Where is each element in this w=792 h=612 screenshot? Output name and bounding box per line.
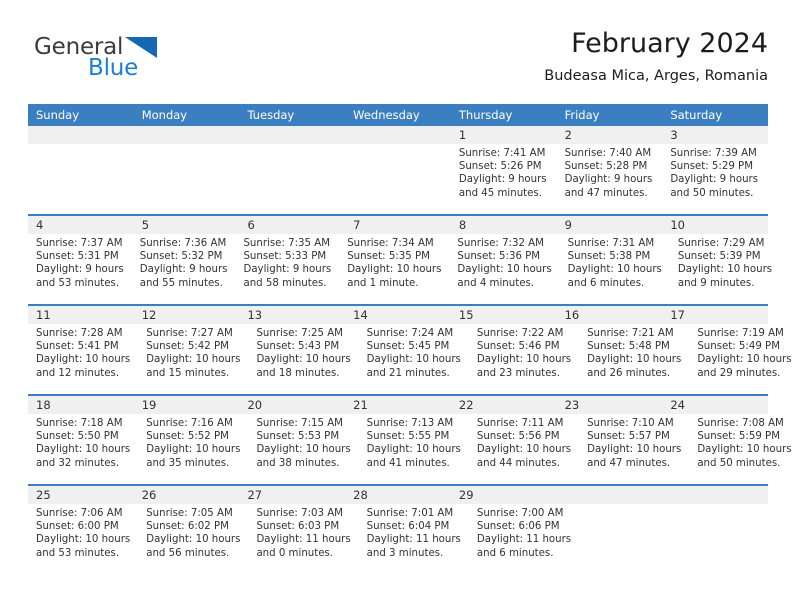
day-info-line: and 44 minutes. — [477, 457, 571, 470]
day-info-line: and 47 minutes. — [565, 187, 655, 200]
day-info-line: and 32 minutes. — [36, 457, 130, 470]
day-info-line: Sunrise: 7:41 AM — [459, 147, 549, 160]
day-info-line: and 38 minutes. — [256, 457, 350, 470]
day-cell-23[interactable]: Sunrise: 7:10 AMSunset: 5:57 PMDaylight:… — [579, 414, 689, 484]
day-info-line: Sunset: 5:49 PM — [697, 340, 791, 353]
week-detail-row: Sunrise: 7:41 AMSunset: 5:26 PMDaylight:… — [28, 144, 768, 214]
day-info-line: Sunset: 5:26 PM — [459, 160, 549, 173]
day-info-line: Sunset: 5:35 PM — [347, 250, 441, 263]
day-info-line: Daylight: 10 hours — [256, 353, 350, 366]
day-number-12[interactable]: 12 — [134, 306, 240, 324]
day-info-line: Sunrise: 7:39 AM — [670, 147, 760, 160]
day-info-line: Daylight: 9 hours — [565, 173, 655, 186]
day-number-empty — [239, 126, 345, 144]
day-info-line: and 26 minutes. — [587, 367, 681, 380]
day-info-line: Sunset: 5:59 PM — [697, 430, 791, 443]
day-cell-14[interactable]: Sunrise: 7:24 AMSunset: 5:45 PMDaylight:… — [359, 324, 469, 394]
day-info-line: and 47 minutes. — [587, 457, 681, 470]
day-info-line: Sunrise: 7:24 AM — [367, 327, 461, 340]
day-number-15[interactable]: 15 — [451, 306, 557, 324]
day-info-line: Sunrise: 7:05 AM — [146, 507, 240, 520]
day-info-line: Sunset: 5:56 PM — [477, 430, 571, 443]
week-date-strip: 123 — [28, 126, 768, 144]
day-info-line: Daylight: 10 hours — [477, 353, 571, 366]
day-info-line: Daylight: 10 hours — [697, 443, 791, 456]
title-block: February 2024 Budeasa Mica, Arges, Roman… — [544, 28, 768, 85]
day-info-line: Sunset: 5:43 PM — [256, 340, 350, 353]
day-cell-22[interactable]: Sunrise: 7:11 AMSunset: 5:56 PMDaylight:… — [469, 414, 579, 484]
day-info-line: Sunrise: 7:01 AM — [367, 507, 461, 520]
weekday-header-thursday: Thursday — [451, 104, 557, 126]
day-info-line: and 15 minutes. — [146, 367, 240, 380]
day-info-line: and 1 minute. — [347, 277, 441, 290]
day-cell-13[interactable]: Sunrise: 7:25 AMSunset: 5:43 PMDaylight:… — [248, 324, 358, 394]
day-info-line: Daylight: 10 hours — [697, 353, 791, 366]
day-info-line: Daylight: 10 hours — [36, 533, 130, 546]
day-info-line: Daylight: 11 hours — [477, 533, 571, 546]
day-number-empty — [28, 126, 134, 144]
day-cell-11[interactable]: Sunrise: 7:28 AMSunset: 5:41 PMDaylight:… — [28, 324, 138, 394]
day-info-line: Sunset: 5:31 PM — [36, 250, 124, 263]
day-info-line: and 23 minutes. — [477, 367, 571, 380]
day-number-11[interactable]: 11 — [28, 306, 134, 324]
day-number-29[interactable]: 29 — [451, 486, 557, 504]
day-info-line: Sunrise: 7:06 AM — [36, 507, 130, 520]
day-info-line: and 0 minutes. — [256, 547, 350, 560]
day-cell-empty — [134, 144, 240, 214]
day-info-line: and 4 minutes. — [457, 277, 551, 290]
day-info-line: Sunrise: 7:19 AM — [697, 327, 791, 340]
day-info-line: Daylight: 10 hours — [587, 443, 681, 456]
day-info-line: and 53 minutes. — [36, 547, 130, 560]
day-cell-7[interactable]: Sunrise: 7:34 AMSunset: 5:35 PMDaylight:… — [339, 234, 449, 304]
day-info-line: Sunset: 5:57 PM — [587, 430, 681, 443]
day-info-line: Sunset: 5:45 PM — [367, 340, 461, 353]
day-cell-17[interactable]: Sunrise: 7:19 AMSunset: 5:49 PMDaylight:… — [689, 324, 792, 394]
day-info-line: and 6 minutes. — [568, 277, 662, 290]
day-cell-5[interactable]: Sunrise: 7:36 AMSunset: 5:32 PMDaylight:… — [132, 234, 236, 304]
week-date-strip: 18192021222324 — [28, 396, 768, 414]
day-info-line: Sunrise: 7:28 AM — [36, 327, 130, 340]
day-info-line: Sunrise: 7:08 AM — [697, 417, 791, 430]
day-number-empty — [557, 486, 663, 504]
day-info-line: and 53 minutes. — [36, 277, 124, 290]
day-info-line: Sunset: 5:42 PM — [146, 340, 240, 353]
day-info-line: Sunset: 5:46 PM — [477, 340, 571, 353]
day-cell-3[interactable]: Sunrise: 7:39 AMSunset: 5:29 PMDaylight:… — [662, 144, 768, 214]
day-number-empty — [134, 126, 240, 144]
calendar-weeks: 123Sunrise: 7:41 AMSunset: 5:26 PMDaylig… — [28, 126, 768, 574]
day-info-line: Sunrise: 7:27 AM — [146, 327, 240, 340]
day-info-line: Sunset: 5:53 PM — [256, 430, 350, 443]
day-cell-9[interactable]: Sunrise: 7:31 AMSunset: 5:38 PMDaylight:… — [560, 234, 670, 304]
day-info-line: Sunset: 5:38 PM — [568, 250, 662, 263]
day-cell-21[interactable]: Sunrise: 7:13 AMSunset: 5:55 PMDaylight:… — [359, 414, 469, 484]
day-cell-28[interactable]: Sunrise: 7:01 AMSunset: 6:04 PMDaylight:… — [359, 504, 469, 574]
day-info-line: Daylight: 10 hours — [146, 353, 240, 366]
day-info-line: Sunrise: 7:13 AM — [367, 417, 461, 430]
day-cell-8[interactable]: Sunrise: 7:32 AMSunset: 5:36 PMDaylight:… — [449, 234, 559, 304]
day-info-line: Daylight: 10 hours — [457, 263, 551, 276]
page-subtitle: Budeasa Mica, Arges, Romania — [544, 68, 768, 85]
day-info-line: Daylight: 10 hours — [36, 353, 130, 366]
weekday-header-wednesday: Wednesday — [345, 104, 451, 126]
day-info-line: Daylight: 9 hours — [459, 173, 549, 186]
day-info-line: Sunset: 5:28 PM — [565, 160, 655, 173]
day-info-line: Daylight: 9 hours — [243, 263, 331, 276]
general-blue-logo[interactable]: General Blue — [28, 34, 288, 90]
day-cell-4[interactable]: Sunrise: 7:37 AMSunset: 5:31 PMDaylight:… — [28, 234, 132, 304]
day-info-line: and 9 minutes. — [678, 277, 772, 290]
weekday-header-monday: Monday — [134, 104, 240, 126]
day-number-21[interactable]: 21 — [345, 396, 451, 414]
day-number-27[interactable]: 27 — [239, 486, 345, 504]
day-number-16[interactable]: 16 — [557, 306, 663, 324]
day-number-14[interactable]: 14 — [345, 306, 451, 324]
day-info-line: Sunset: 6:03 PM — [256, 520, 350, 533]
day-info-line: Sunset: 5:33 PM — [243, 250, 331, 263]
day-cell-10[interactable]: Sunrise: 7:29 AMSunset: 5:39 PMDaylight:… — [670, 234, 780, 304]
day-number-empty — [345, 126, 451, 144]
day-info-line: Sunrise: 7:36 AM — [140, 237, 228, 250]
day-info-line: Daylight: 10 hours — [367, 353, 461, 366]
day-info-line: Daylight: 10 hours — [678, 263, 772, 276]
day-info-line: Sunrise: 7:31 AM — [568, 237, 662, 250]
day-info-line: Daylight: 10 hours — [146, 533, 240, 546]
weekday-header-saturday: Saturday — [662, 104, 768, 126]
day-number-13[interactable]: 13 — [239, 306, 345, 324]
day-info-line: Daylight: 10 hours — [146, 443, 240, 456]
day-info-line: and 3 minutes. — [367, 547, 461, 560]
day-info-line: Daylight: 11 hours — [367, 533, 461, 546]
day-info-line: and 12 minutes. — [36, 367, 130, 380]
day-info-line: Daylight: 11 hours — [256, 533, 350, 546]
day-cell-6[interactable]: Sunrise: 7:35 AMSunset: 5:33 PMDaylight:… — [235, 234, 339, 304]
day-info-line: Sunrise: 7:15 AM — [256, 417, 350, 430]
day-number-18[interactable]: 18 — [28, 396, 134, 414]
day-cell-26[interactable]: Sunrise: 7:05 AMSunset: 6:02 PMDaylight:… — [138, 504, 248, 574]
day-info-line: Daylight: 10 hours — [256, 443, 350, 456]
page-header: General Blue February 2024 Budeasa Mica,… — [28, 28, 768, 96]
weekday-header-sunday: Sunday — [28, 104, 134, 126]
day-cell-18[interactable]: Sunrise: 7:18 AMSunset: 5:50 PMDaylight:… — [28, 414, 138, 484]
day-info-line: Daylight: 10 hours — [347, 263, 441, 276]
day-info-line: Sunrise: 7:03 AM — [256, 507, 350, 520]
day-info-line: Sunrise: 7:34 AM — [347, 237, 441, 250]
day-info-line: Daylight: 10 hours — [587, 353, 681, 366]
day-info-line: and 35 minutes. — [146, 457, 240, 470]
day-info-line: and 29 minutes. — [697, 367, 791, 380]
day-number-6[interactable]: 6 — [239, 216, 345, 234]
day-info-line: Sunset: 5:32 PM — [140, 250, 228, 263]
day-number-23[interactable]: 23 — [557, 396, 663, 414]
day-info-line: Sunset: 6:00 PM — [36, 520, 130, 533]
day-cell-27[interactable]: Sunrise: 7:03 AMSunset: 6:03 PMDaylight:… — [248, 504, 358, 574]
day-number-2[interactable]: 2 — [557, 126, 663, 144]
day-info-line: Daylight: 10 hours — [477, 443, 571, 456]
logo-text-blue: Blue — [88, 55, 138, 81]
day-cell-20[interactable]: Sunrise: 7:15 AMSunset: 5:53 PMDaylight:… — [248, 414, 358, 484]
day-info-line: Daylight: 10 hours — [568, 263, 662, 276]
day-info-line: and 6 minutes. — [477, 547, 571, 560]
day-info-line: Sunset: 5:52 PM — [146, 430, 240, 443]
day-cell-2[interactable]: Sunrise: 7:40 AMSunset: 5:28 PMDaylight:… — [557, 144, 663, 214]
day-number-22[interactable]: 22 — [451, 396, 557, 414]
week-date-strip: 45678910 — [28, 216, 768, 234]
day-info-line: Sunrise: 7:16 AM — [146, 417, 240, 430]
day-number-17[interactable]: 17 — [662, 306, 768, 324]
week-detail-row: Sunrise: 7:18 AMSunset: 5:50 PMDaylight:… — [28, 414, 768, 484]
day-cell-empty — [579, 504, 673, 574]
day-info-line: and 21 minutes. — [367, 367, 461, 380]
day-info-line: and 56 minutes. — [146, 547, 240, 560]
day-info-line: Sunrise: 7:35 AM — [243, 237, 331, 250]
day-cell-24[interactable]: Sunrise: 7:08 AMSunset: 5:59 PMDaylight:… — [689, 414, 792, 484]
day-number-9[interactable]: 9 — [557, 216, 663, 234]
calendar-week-row: 45678910Sunrise: 7:37 AMSunset: 5:31 PMD… — [28, 214, 768, 304]
day-info-line: and 18 minutes. — [256, 367, 350, 380]
day-info-line: Sunrise: 7:21 AM — [587, 327, 681, 340]
day-number-28[interactable]: 28 — [345, 486, 451, 504]
calendar-grid: SundayMondayTuesdayWednesdayThursdayFrid… — [28, 104, 768, 574]
day-info-line: and 41 minutes. — [367, 457, 461, 470]
day-info-line: Sunset: 5:55 PM — [367, 430, 461, 443]
day-info-line: and 50 minutes. — [697, 457, 791, 470]
day-info-line: Sunset: 5:41 PM — [36, 340, 130, 353]
day-number-5[interactable]: 5 — [134, 216, 240, 234]
day-cell-12[interactable]: Sunrise: 7:27 AMSunset: 5:42 PMDaylight:… — [138, 324, 248, 394]
calendar-page: General Blue February 2024 Budeasa Mica,… — [0, 0, 792, 612]
day-info-line: and 55 minutes. — [140, 277, 228, 290]
day-cell-16[interactable]: Sunrise: 7:21 AMSunset: 5:48 PMDaylight:… — [579, 324, 689, 394]
weekday-header-friday: Friday — [557, 104, 663, 126]
week-detail-row: Sunrise: 7:06 AMSunset: 6:00 PMDaylight:… — [28, 504, 768, 574]
day-number-3[interactable]: 3 — [662, 126, 768, 144]
day-number-7[interactable]: 7 — [345, 216, 451, 234]
day-info-line: Sunset: 5:29 PM — [670, 160, 760, 173]
day-cell-empty — [345, 144, 451, 214]
day-info-line: Sunrise: 7:18 AM — [36, 417, 130, 430]
page-title: February 2024 — [544, 28, 768, 60]
day-info-line: Sunset: 5:39 PM — [678, 250, 772, 263]
day-info-line: Sunset: 5:36 PM — [457, 250, 551, 263]
day-cell-19[interactable]: Sunrise: 7:16 AMSunset: 5:52 PMDaylight:… — [138, 414, 248, 484]
day-number-1[interactable]: 1 — [451, 126, 557, 144]
day-info-line: Sunset: 6:06 PM — [477, 520, 571, 533]
day-number-26[interactable]: 26 — [134, 486, 240, 504]
day-cell-25[interactable]: Sunrise: 7:06 AMSunset: 6:00 PMDaylight:… — [28, 504, 138, 574]
day-info-line: Sunrise: 7:11 AM — [477, 417, 571, 430]
day-info-line: Sunrise: 7:40 AM — [565, 147, 655, 160]
week-detail-row: Sunrise: 7:28 AMSunset: 5:41 PMDaylight:… — [28, 324, 768, 394]
day-info-line: Sunrise: 7:10 AM — [587, 417, 681, 430]
day-cell-29[interactable]: Sunrise: 7:00 AMSunset: 6:06 PMDaylight:… — [469, 504, 579, 574]
day-number-10[interactable]: 10 — [662, 216, 768, 234]
day-info-line: Daylight: 9 hours — [36, 263, 124, 276]
day-cell-empty — [239, 144, 345, 214]
day-number-empty — [662, 486, 768, 504]
day-info-line: and 50 minutes. — [670, 187, 760, 200]
day-number-20[interactable]: 20 — [239, 396, 345, 414]
day-info-line: Daylight: 9 hours — [670, 173, 760, 186]
day-info-line: Daylight: 10 hours — [367, 443, 461, 456]
day-info-line: and 58 minutes. — [243, 277, 331, 290]
day-number-8[interactable]: 8 — [451, 216, 557, 234]
week-date-strip: 2526272829 — [28, 486, 768, 504]
day-info-line: Daylight: 9 hours — [140, 263, 228, 276]
day-cell-empty — [28, 144, 134, 214]
calendar-week-row: 2526272829Sunrise: 7:06 AMSunset: 6:00 P… — [28, 484, 768, 574]
day-number-24[interactable]: 24 — [662, 396, 768, 414]
day-number-25[interactable]: 25 — [28, 486, 134, 504]
day-info-line: Sunrise: 7:37 AM — [36, 237, 124, 250]
day-info-line: Sunset: 6:02 PM — [146, 520, 240, 533]
day-cell-empty — [674, 504, 768, 574]
day-info-line: Sunrise: 7:22 AM — [477, 327, 571, 340]
calendar-week-row: 11121314151617Sunrise: 7:28 AMSunset: 5:… — [28, 304, 768, 394]
day-cell-15[interactable]: Sunrise: 7:22 AMSunset: 5:46 PMDaylight:… — [469, 324, 579, 394]
day-info-line: Sunset: 5:50 PM — [36, 430, 130, 443]
day-info-line: Sunrise: 7:32 AM — [457, 237, 551, 250]
day-info-line: Daylight: 10 hours — [36, 443, 130, 456]
day-info-line: and 45 minutes. — [459, 187, 549, 200]
day-number-4[interactable]: 4 — [28, 216, 134, 234]
day-info-line: Sunset: 6:04 PM — [367, 520, 461, 533]
week-date-strip: 11121314151617 — [28, 306, 768, 324]
weekday-header-tuesday: Tuesday — [239, 104, 345, 126]
day-cell-1[interactable]: Sunrise: 7:41 AMSunset: 5:26 PMDaylight:… — [451, 144, 557, 214]
day-info-line: Sunrise: 7:00 AM — [477, 507, 571, 520]
day-info-line: Sunset: 5:48 PM — [587, 340, 681, 353]
calendar-week-row: 123Sunrise: 7:41 AMSunset: 5:26 PMDaylig… — [28, 126, 768, 214]
day-info-line: Sunrise: 7:29 AM — [678, 237, 772, 250]
calendar-week-row: 18192021222324Sunrise: 7:18 AMSunset: 5:… — [28, 394, 768, 484]
weekday-header-row: SundayMondayTuesdayWednesdayThursdayFrid… — [28, 104, 768, 126]
week-detail-row: Sunrise: 7:37 AMSunset: 5:31 PMDaylight:… — [28, 234, 768, 304]
day-info-line: Sunrise: 7:25 AM — [256, 327, 350, 340]
day-number-19[interactable]: 19 — [134, 396, 240, 414]
